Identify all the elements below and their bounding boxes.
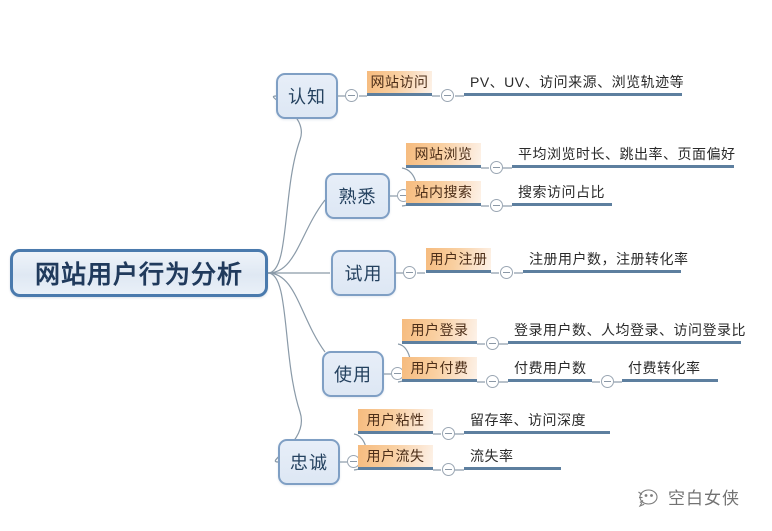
topic-node-user-payment[interactable]: 用户付费 [402,357,477,382]
toggle-topic-site-search[interactable] [490,199,503,212]
topic-node-user-payment-label: 用户付费 [411,358,469,378]
branch-node-cognition[interactable]: 认知 [276,73,338,119]
topic-node-user-login-label: 用户登录 [411,320,469,340]
wire-root-to-branch-2 [268,200,325,273]
leaf-node-site-browse-metrics-label: 平均浏览时长、跳出率、页面偏好 [518,144,736,164]
topic-node-user-churn[interactable]: 用户流失 [358,445,433,470]
watermark-text: 空白女侠 [668,484,740,509]
leaf-node-site-browse-metrics[interactable]: 平均浏览时长、跳出率、页面偏好 [512,143,734,168]
wechat-face-logo-icon [636,485,662,509]
leaf-node-site-visit-metrics-label: PV、UV、访问来源、浏览轨迹等 [470,72,684,92]
branch-node-loyalty-label: 忠诚 [290,449,328,475]
leaf-node-user-stickiness-metrics[interactable]: 留存率、访问深度 [464,409,610,434]
branch-node-usage[interactable]: 使用 [322,351,384,397]
root-node-label: 网站用户行为分析 [35,255,243,291]
toggle-topic-user-stickiness[interactable] [442,427,455,440]
topic-node-site-visit-label: 网站访问 [371,72,429,92]
topic-node-user-register[interactable]: 用户注册 [426,248,491,273]
leaf-node-user-register-metrics[interactable]: 注册用户数，注册转化率 [523,248,681,273]
wire-root-to-branch-4 [268,273,325,352]
topic-node-site-browse[interactable]: 网站浏览 [406,143,481,168]
toggle-branch-trial[interactable] [403,266,416,279]
leaf-node-payment-conversion-label: 付费转化率 [628,358,701,378]
leaf-node-user-churn-metrics-label: 流失率 [470,446,514,466]
branch-node-trial-label: 试用 [345,260,383,286]
toggle-topic-site-visit[interactable] [441,89,454,102]
topic-node-user-login[interactable]: 用户登录 [402,319,477,344]
eye-left-icon [645,494,648,497]
leaf-node-user-login-metrics-label: 登录用户数、人均登录、访问登录比 [514,320,746,340]
branch-node-trial[interactable]: 试用 [331,250,396,296]
leaf-node-user-register-metrics-label: 注册用户数，注册转化率 [529,249,689,269]
topic-node-site-search-label: 站内搜索 [415,182,473,202]
leaf-node-user-churn-metrics[interactable]: 流失率 [464,445,561,470]
toggle-branch-cognition[interactable] [345,89,358,102]
toggle-topic-user-login[interactable] [486,337,499,350]
leaf-node-site-search-metrics[interactable]: 搜索访问占比 [512,181,612,206]
leaf-node-payment-conversion[interactable]: 付费转化率 [622,357,718,382]
branch-node-usage-label: 使用 [334,361,372,387]
leaf-node-user-stickiness-metrics-label: 留存率、访问深度 [470,410,586,430]
leaf-node-paying-users[interactable]: 付费用户数 [508,357,592,382]
mindmap-canvas: 网站用户行为分析 认知 网站访问 PV、UV、访问来源、浏览轨迹等 熟悉 网站浏… [0,0,772,531]
topic-node-user-churn-label: 用户流失 [367,446,425,466]
branch-node-loyalty[interactable]: 忠诚 [278,439,340,485]
topic-node-user-stickiness[interactable]: 用户粘性 [358,409,433,434]
leaf-node-site-search-metrics-label: 搜索访问占比 [518,182,605,202]
toggle-leaf-paying-users[interactable] [601,375,614,388]
topic-node-site-browse-label: 网站浏览 [415,144,473,164]
watermark: 空白女侠 [636,484,740,509]
toggle-topic-user-churn[interactable] [442,463,455,476]
branch-node-familiarity-label: 熟悉 [339,183,377,209]
toggle-topic-user-register[interactable] [500,266,513,279]
leaf-node-paying-users-label: 付费用户数 [514,358,587,378]
toggle-topic-site-browse[interactable] [490,161,503,174]
wire-root-to-branch-5 [268,273,301,462]
branch-node-familiarity[interactable]: 熟悉 [325,173,390,219]
topic-node-user-stickiness-label: 用户粘性 [367,410,425,430]
leaf-node-user-login-metrics[interactable]: 登录用户数、人均登录、访问登录比 [508,319,741,344]
eye-right-icon [650,494,653,497]
topic-node-site-search[interactable]: 站内搜索 [406,181,481,206]
leaf-node-site-visit-metrics[interactable]: PV、UV、访问来源、浏览轨迹等 [464,71,682,96]
toggle-topic-user-payment[interactable] [486,375,499,388]
topic-node-user-register-label: 用户注册 [430,249,488,269]
branch-node-cognition-label: 认知 [288,83,326,109]
root-node[interactable]: 网站用户行为分析 [10,249,268,297]
wire-root-to-branch-1 [268,96,301,273]
topic-node-site-visit[interactable]: 网站访问 [367,71,432,96]
